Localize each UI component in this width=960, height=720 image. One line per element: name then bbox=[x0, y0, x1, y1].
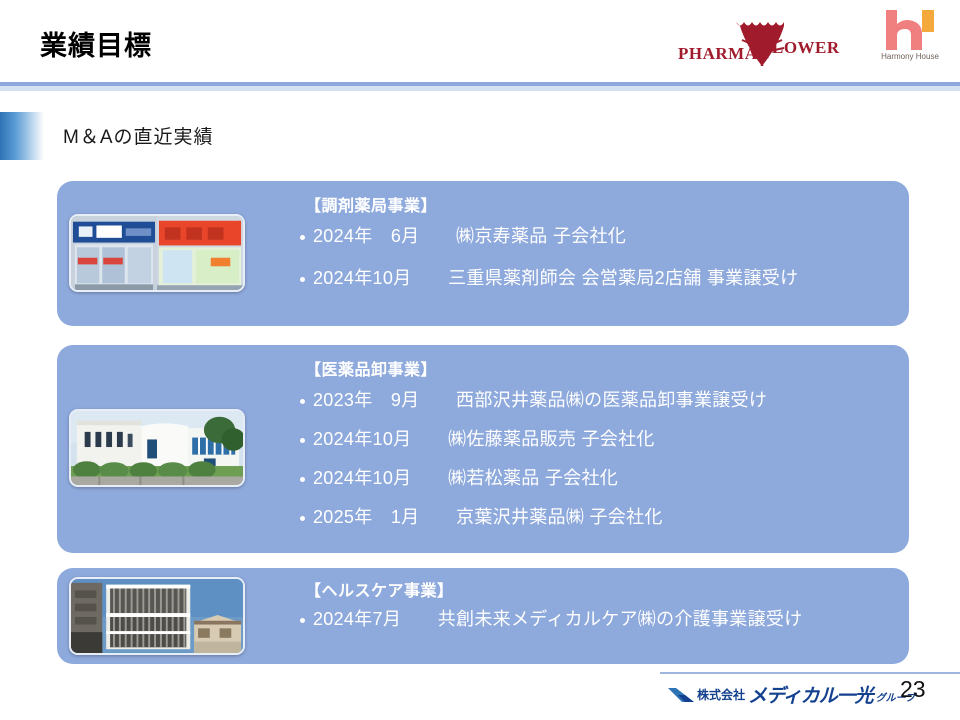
wholesale-office-building-photo bbox=[69, 409, 245, 487]
list-item: 2024年10月 三重県薬剤師会 会営薬局2店舗 事業譲受け bbox=[299, 269, 893, 287]
panel-bullet-list: 2023年 9月 西部沢井薬品㈱の医薬品卸事業譲受け 2024年10月 ㈱佐藤薬… bbox=[299, 391, 893, 547]
panel-body: 【医薬品卸事業】 2023年 9月 西部沢井薬品㈱の医薬品卸事業譲受け 2024… bbox=[253, 345, 893, 553]
healthcare-facility-building-photo bbox=[69, 577, 245, 655]
panel-body: 【ヘルスケア事業】 2024年7月 共創未来メディカルケア㈱の介護事業譲受け bbox=[253, 568, 893, 664]
business-panel-pharmaceutical-wholesale: 【医薬品卸事業】 2023年 9月 西部沢井薬品㈱の医薬品卸事業譲受け 2024… bbox=[57, 345, 909, 553]
panel-body: 【調剤薬局事業】 2024年 6月 ㈱京寿薬品 子会社化 2024年10月 三重… bbox=[253, 181, 893, 326]
pharmacy-storefront-photo bbox=[69, 214, 245, 292]
panel-bullet-list: 2024年7月 共創未来メディカルケア㈱の介護事業譲受け bbox=[299, 610, 893, 628]
list-item: 2023年 9月 西部沢井薬品㈱の医薬品卸事業譲受け bbox=[299, 391, 893, 409]
page-number: 23 bbox=[900, 676, 926, 703]
harmony-house-logo-caption: Harmony House bbox=[872, 52, 948, 61]
pharmacy-flower-logo: PHARMAC LOWER bbox=[676, 12, 852, 72]
list-item: 2025年 1月 京葉沢井薬品㈱ 子会社化 bbox=[299, 508, 893, 526]
business-panel-healthcare: 【ヘルスケア事業】 2024年7月 共創未来メディカルケア㈱の介護事業譲受け bbox=[57, 568, 909, 664]
list-item: 2024年7月 共創未来メディカルケア㈱の介護事業譲受け bbox=[299, 610, 893, 628]
list-item: 2024年 6月 ㈱京寿薬品 子会社化 bbox=[299, 227, 893, 245]
harmony-house-h-icon bbox=[882, 10, 938, 50]
panel-heading: 【医薬品卸事業】 bbox=[305, 356, 437, 380]
footer-logo-company-name: メディカル一光 bbox=[748, 681, 873, 708]
header-divider-light bbox=[0, 86, 960, 91]
list-item: 2024年10月 ㈱若松薬品 子会社化 bbox=[299, 469, 893, 487]
section-title: M＆Aの直近実績 bbox=[63, 122, 214, 149]
page-title: 業績目標 bbox=[40, 24, 152, 63]
panel-heading: 【調剤薬局事業】 bbox=[305, 192, 437, 216]
section-accent-bar bbox=[0, 112, 44, 160]
footer-logo-kabushikigaisha: 株式会社 bbox=[697, 686, 745, 703]
business-panel-dispensing-pharmacy: 【調剤薬局事業】 2024年 6月 ㈱京寿薬品 子会社化 2024年10月 三重… bbox=[57, 181, 909, 326]
harmony-house-logo: Harmony House bbox=[872, 8, 948, 72]
footer-divider bbox=[660, 672, 960, 674]
panel-heading: 【ヘルスケア事業】 bbox=[305, 577, 454, 601]
mountain-mark-icon bbox=[668, 686, 694, 702]
panel-bullet-list: 2024年 6月 ㈱京寿薬品 子会社化 2024年10月 三重県薬剤師会 会営薬… bbox=[299, 227, 893, 311]
list-item: 2024年10月 ㈱佐藤薬品販売 子会社化 bbox=[299, 430, 893, 448]
slide-header: 業績目標 PHARMAC LOWER Harmony House bbox=[0, 0, 960, 88]
tulip-flower-icon bbox=[732, 16, 792, 70]
medical-ikko-group-logo: 株式会社 メディカル一光 グループ bbox=[668, 681, 915, 707]
